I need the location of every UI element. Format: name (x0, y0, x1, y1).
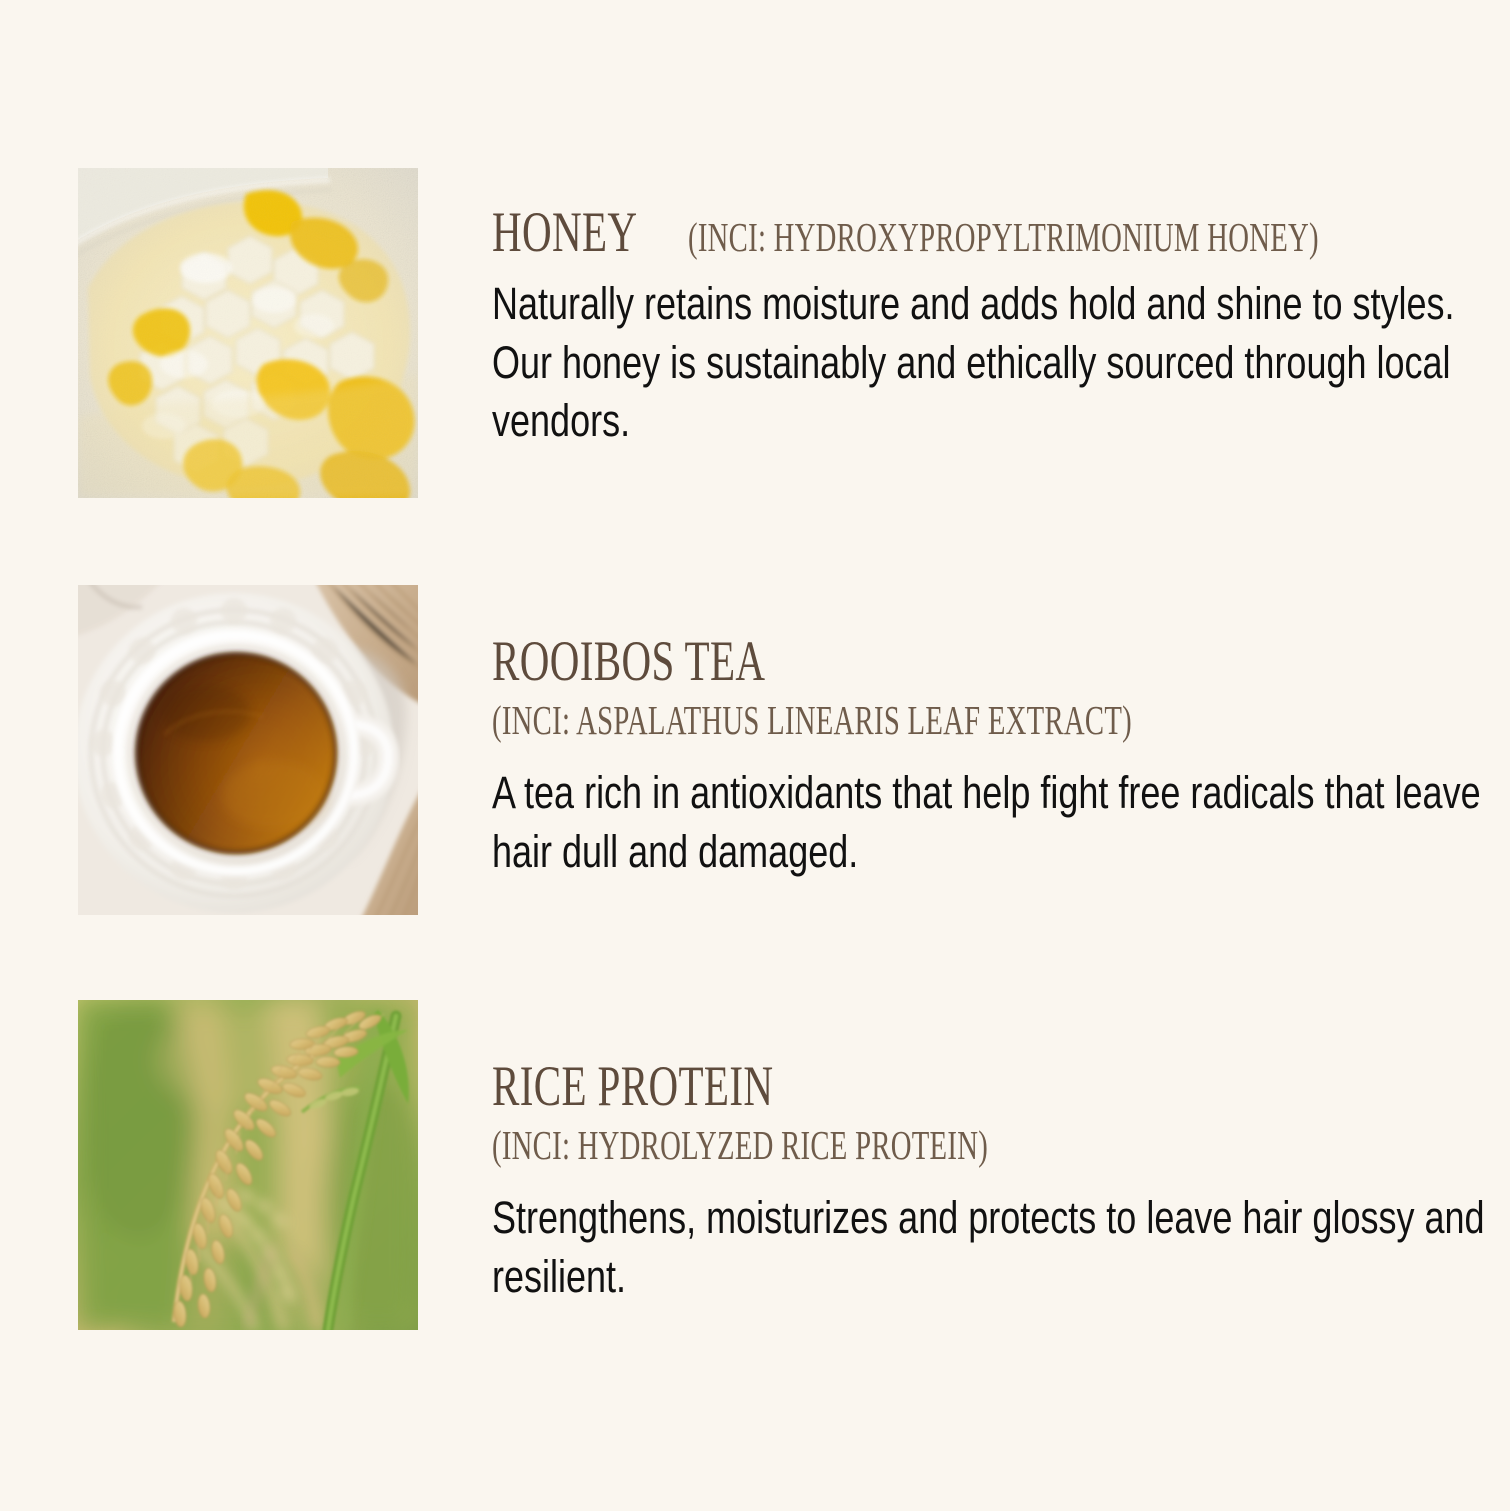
ingredient-description: A tea rich in antioxidants that help fig… (492, 764, 1510, 881)
rice-copy-block: RICE PROTEIN (INCI: HYDROLYZED RICE PROT… (418, 1000, 1510, 1306)
ingredient-inci: (INCI: HYDROLYZED RICE PROTEIN) (492, 1121, 988, 1169)
rooibos-tea-cup-photo (78, 585, 418, 915)
honey-copy-block: HONEY(INCI: HYDROXYPROPYLTRIMONIUM HONEY… (418, 168, 1510, 451)
honey-heading: HONEY(INCI: HYDROXYPROPYLTRIMONIUM HONEY… (492, 204, 1510, 261)
honeycomb-in-dish-photo (78, 168, 418, 498)
rice-stalk-field-photo (78, 1000, 418, 1330)
ingredient-inci: (INCI: ASPALATHUS LINEARIS LEAF EXTRACT) (492, 696, 1132, 744)
rice-heading: RICE PROTEIN (492, 1058, 1510, 1115)
ingredient-row-rice-protein: RICE PROTEIN (INCI: HYDROLYZED RICE PROT… (78, 1000, 1458, 1330)
ingredient-benefits-panel: HONEY(INCI: HYDROXYPROPYLTRIMONIUM HONEY… (0, 0, 1510, 1511)
ingredient-description: Strengthens, moisturizes and protects to… (492, 1189, 1510, 1306)
rooibos-heading: ROOIBOS TEA (492, 633, 1510, 690)
ingredient-row-honey: HONEY(INCI: HYDROXYPROPYLTRIMONIUM HONEY… (78, 168, 1458, 498)
rooibos-inci-line: (INCI: ASPALATHUS LINEARIS LEAF EXTRACT) (492, 696, 1510, 744)
ingredient-name: HONEY (492, 204, 637, 261)
ingredient-row-rooibos-tea: ROOIBOS TEA (INCI: ASPALATHUS LINEARIS L… (78, 585, 1458, 915)
rice-inci-line: (INCI: HYDROLYZED RICE PROTEIN) (492, 1121, 1510, 1169)
ingredient-name: RICE PROTEIN (492, 1058, 773, 1115)
ingredient-name: ROOIBOS TEA (492, 633, 765, 690)
ingredient-description: Naturally retains moisture and adds hold… (492, 275, 1510, 451)
rooibos-copy-block: ROOIBOS TEA (INCI: ASPALATHUS LINEARIS L… (418, 585, 1510, 881)
ingredient-inci: (INCI: HYDROXYPROPYLTRIMONIUM HONEY) (688, 217, 1319, 258)
